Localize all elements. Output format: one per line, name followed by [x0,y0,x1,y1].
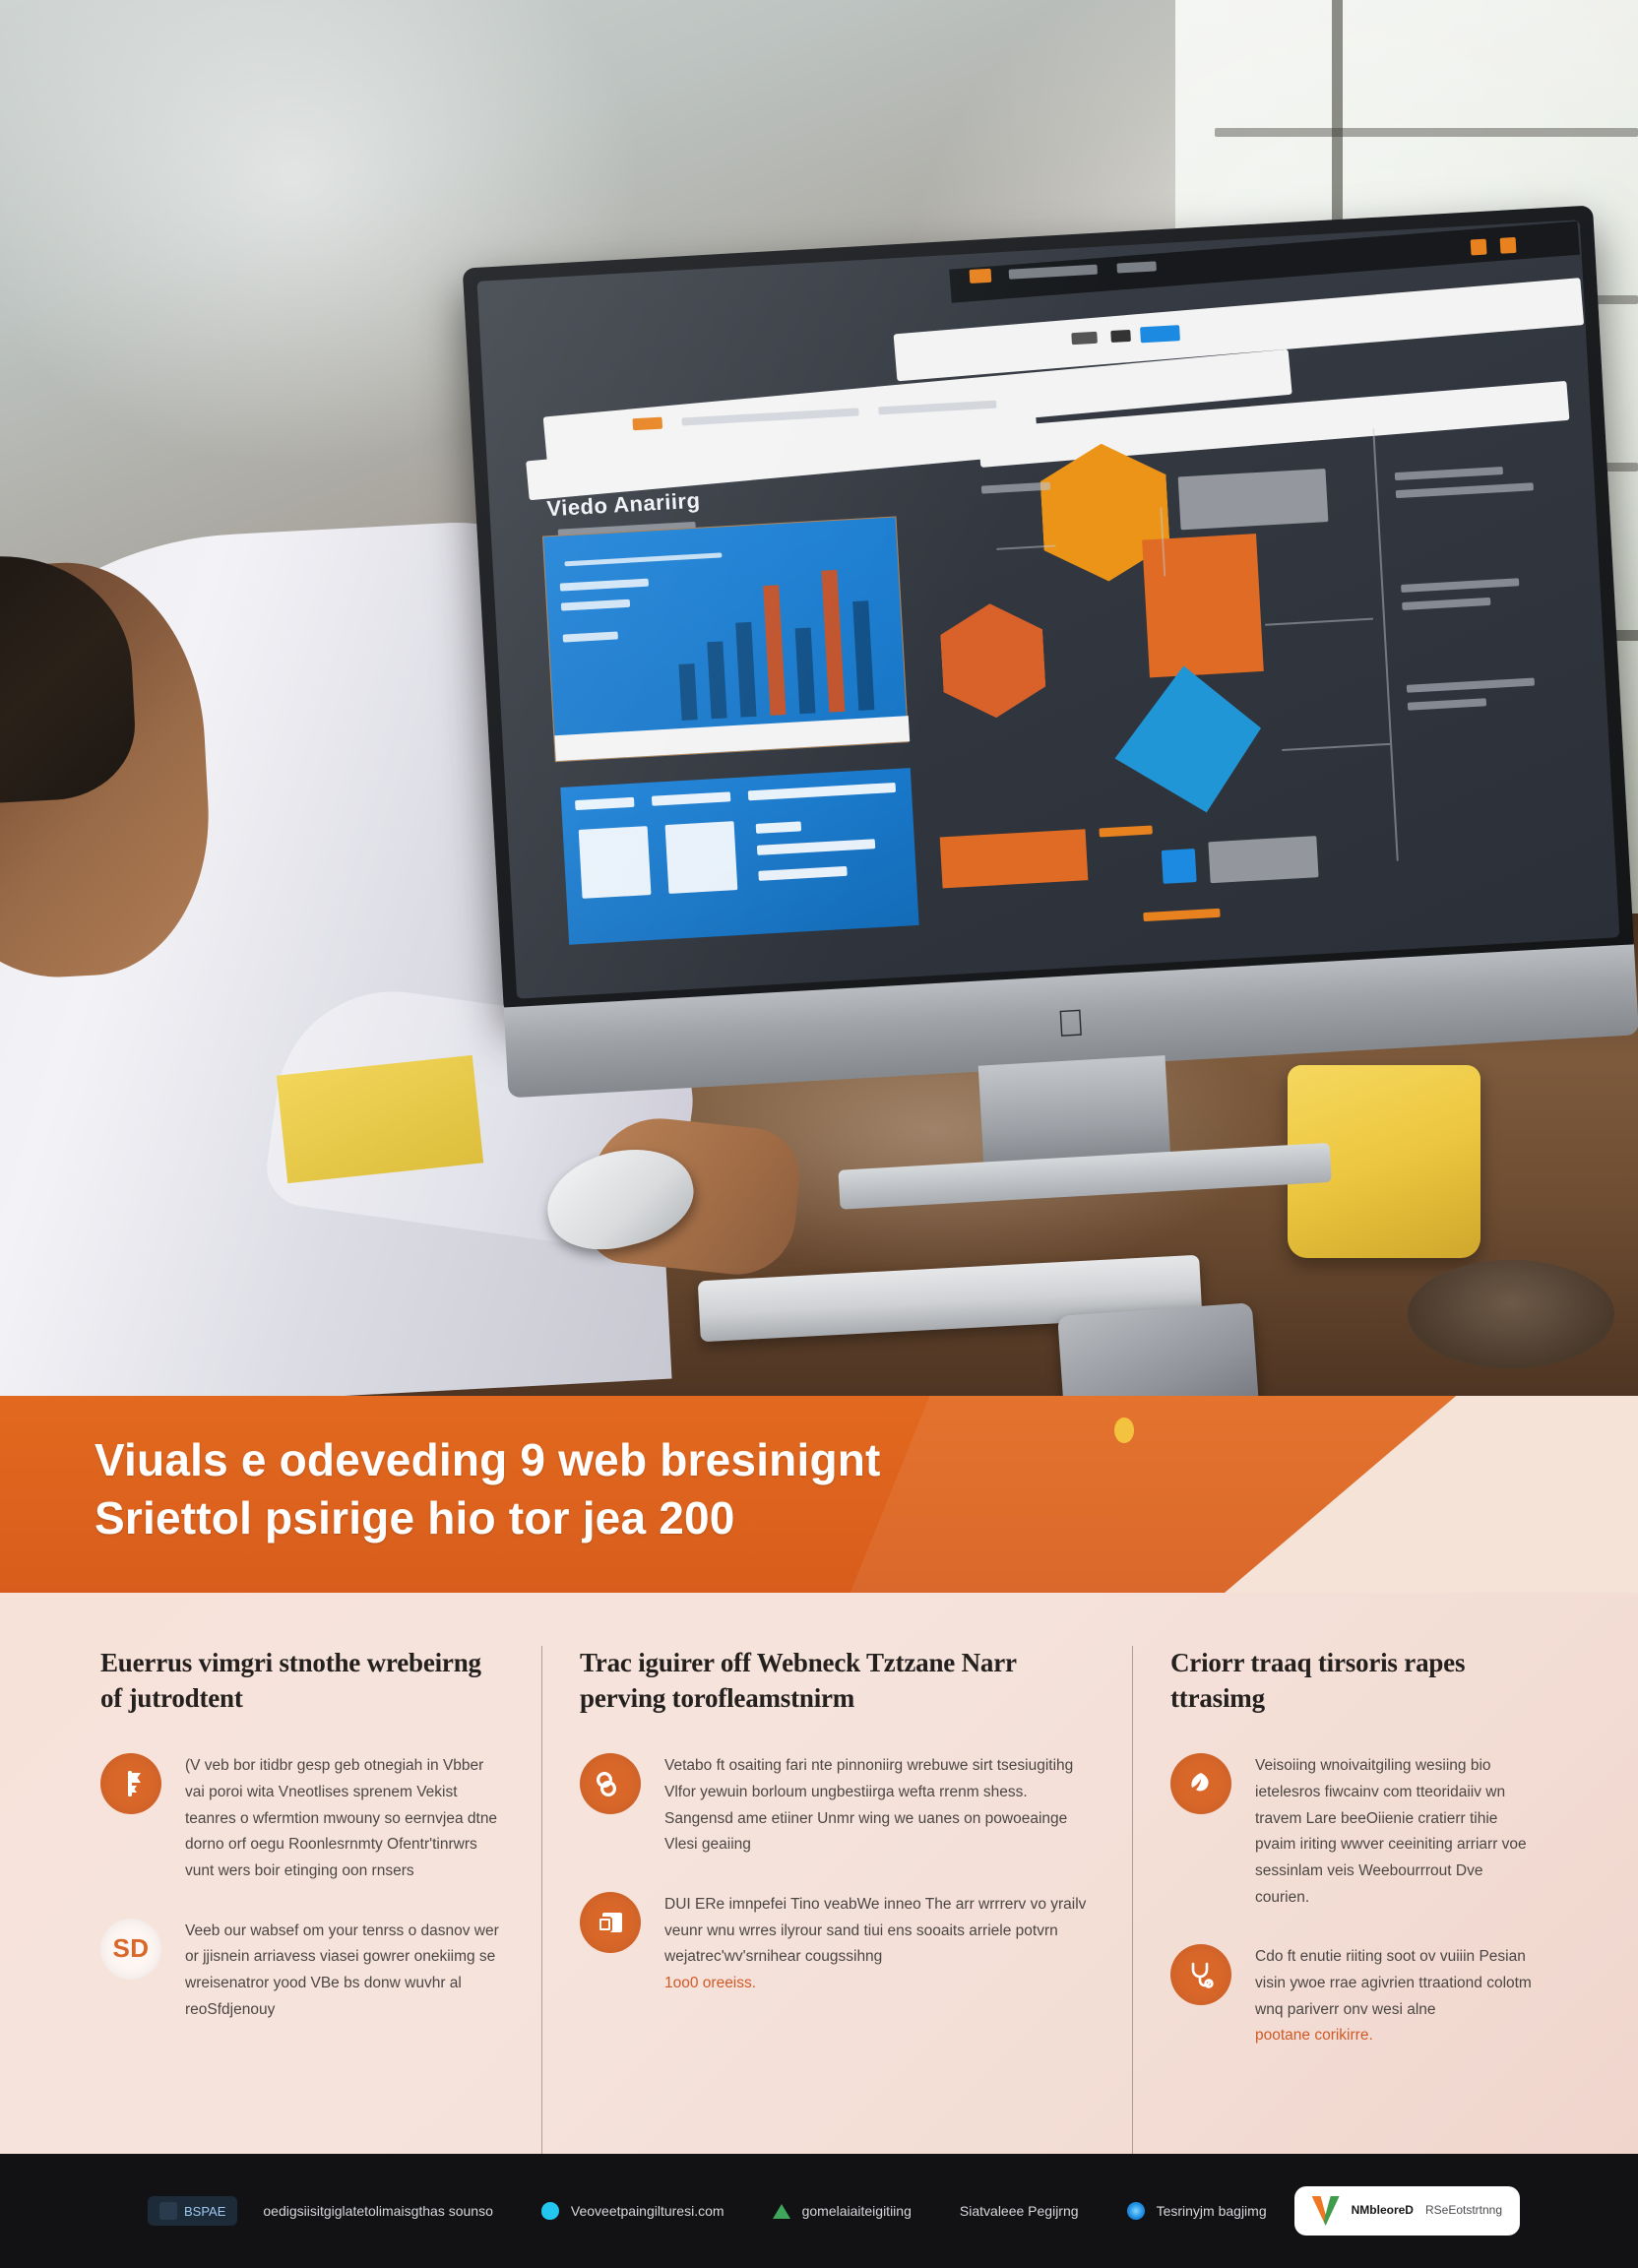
bar [763,585,786,716]
chart-legend-chip [560,579,649,592]
footer-link-1[interactable]: oedigsiisitgiglatetolimaisgthas sounso [263,2203,492,2219]
diagram-label [1401,578,1519,593]
bar [735,622,756,718]
bar [852,600,874,711]
signpost-icon [100,1753,161,1814]
footer-link-3[interactable]: gomelaiaiteigitiing [773,2203,912,2219]
footer-brand-card[interactable]: NMbleoreD RSeEotstrtnng [1294,2186,1520,2236]
list-item-text: DUI ERe imnpefei Tino veabWe inneo The a… [664,1892,1095,1997]
saucer [1408,1260,1614,1368]
list-item-link[interactable]: pootane corikirre. [1255,2023,1538,2049]
footer-bar: BSPAE oedigsiisitgiglatetolimaisgthas so… [0,2154,1638,2268]
column-2: Trac iguirer off Webneck Tztzane Narr pe… [541,1646,1132,2154]
hero-photo:  [0,0,1638,1396]
dashboard-chart-panel[interactable] [542,516,909,762]
diagram-connector [1372,428,1399,860]
person-head [0,556,217,985]
chart-axis-line [564,552,722,566]
banner-headline-line-2: Sriettol psirige hio tor jea 200 [94,1489,1177,1547]
tile [758,866,847,881]
content-columns: Euerrus vimgri stnothe wrebeirng of jutr… [0,1593,1638,2154]
diagram-node-red-hex[interactable] [939,600,1047,721]
dashboard-tiles-panel[interactable] [560,768,918,945]
list-item-text: Vetabo ft osaiting fari nte pinnoniirg w… [664,1753,1095,1858]
diagram-node-blue-diamond[interactable] [1109,661,1265,817]
footer-link-5-label: Tesrinyjm bagjimg [1157,2203,1267,2219]
bar [707,642,726,720]
list-item-text: Cdo ft enutie riiting soot ov vuiiin Pes… [1255,1944,1538,2049]
triangle-green-icon [773,2204,790,2219]
column-3: Criorr traaq tirsoris rapes ttrasimg Vei… [1132,1646,1575,2154]
bar [678,663,697,721]
footer-chip[interactable]: BSPAE [148,2196,237,2226]
brand-card-title: NMbleoreD [1352,2203,1414,2219]
list-item-body-text: Cdo ft enutie riiting soot ov vuiiin Pes… [1255,1948,1532,2017]
banner-text-block: Viuals e odeveding 9 web bresinignt Srie… [94,1431,1177,1547]
diagram-icon-chip[interactable] [1162,849,1197,884]
footer-link-2-label: Veoveetpaingilturesi.com [571,2203,724,2219]
footer-link-2[interactable]: Veoveetpaingilturesi.com [541,2202,724,2220]
diagram-label [1407,678,1535,693]
tile [579,826,652,899]
diagram-accent-label [1143,909,1220,921]
tile [575,797,634,810]
browser-tab[interactable] [1110,330,1131,343]
browser-active-tab[interactable] [1140,325,1180,343]
chart-footer-bar [554,716,910,761]
smartphone [1057,1302,1260,1396]
toolbar-accent-chip[interactable] [970,269,992,283]
imac-computer:  [463,205,1635,1015]
column-3-heading: Criorr traaq tirsoris rapes ttrasimg [1170,1646,1538,1716]
brand-checkmark-icon [1312,2196,1340,2226]
diagram-label [1395,467,1503,480]
tile [748,783,896,800]
diagram-label [1402,598,1490,610]
sd-badge-icon: SD [100,1919,161,1980]
tile [757,839,875,855]
list-item-body-text: DUI ERe imnpefei Tino veabWe inneo The a… [664,1896,1086,1965]
toolbar-accent-chip[interactable] [1500,237,1517,254]
column-1: Euerrus vimgri stnothe wrebeirng of jutr… [63,1646,541,2154]
circle-blue-icon [1127,2202,1145,2220]
diagram-connector [1265,618,1373,626]
list-item: Veisoiing wnoivaitgiling wesiing bio iet… [1170,1753,1538,1911]
diagram-label [1396,482,1534,498]
list-item: DUI ERe imnpefei Tino veabWe inneo The a… [580,1892,1095,1997]
diagram-label [981,482,1050,494]
browser-bar-accent[interactable] [632,417,662,431]
footer-link-4-label: Siatvaleee Pegijrng [960,2203,1079,2219]
list-item-text: (V veb bor itidbr gesp geb otnegiah in V… [185,1753,504,1884]
footer-link-4[interactable]: Siatvaleee Pegijrng [960,2203,1079,2219]
chart-legend-chip [563,631,618,642]
tile [756,821,801,834]
brand-card-subtitle: RSeEotstrtnng [1425,2203,1502,2219]
footer-link-3-label: gomelaiaiteigitiing [802,2203,912,2219]
list-item: Vetabo ft osaiting fari nte pinnoniirg w… [580,1753,1095,1858]
tile [652,791,730,805]
apple-logo-icon:  [1055,1004,1091,1045]
diagram-node-orange-pill[interactable] [940,829,1089,888]
column-2-heading: Trac iguirer off Webneck Tztzane Narr pe… [580,1646,1095,1716]
tile [665,821,738,894]
leaf-icon [1170,1753,1231,1814]
bar [821,570,845,713]
yellow-notepad [277,1055,483,1183]
list-item-text: Veisoiing wnoivaitgiling wesiing bio iet… [1255,1753,1538,1911]
footer-chip-label: BSPAE [184,2204,225,2219]
person-hair [0,549,139,809]
browser-tab[interactable] [1071,332,1098,345]
banner-headline-line-1: Viuals e odeveding 9 web bresinignt [94,1431,1177,1489]
window-blind [1215,128,1638,137]
banner-accent-dot [1114,1417,1134,1443]
diagram-card[interactable] [1208,836,1318,883]
diagram-accent-label [1099,825,1152,837]
list-item-link[interactable]: 1oo0 oreeiss. [664,1971,1095,1997]
monitor-screen[interactable]: Viedo Anariirg [476,220,1619,998]
diagram-label [1408,698,1486,710]
toolbar-accent-chip[interactable] [1471,239,1487,256]
footer-link-1-label: oedigsiisitgiglatetolimaisgthas sounso [263,2203,492,2219]
stethoscope-icon [1170,1944,1231,2005]
diagram-node-orange-rect[interactable] [1142,534,1264,677]
browser-icon [159,2202,177,2220]
infographic-poster:  [0,0,1638,2268]
infinity-icon [580,1753,641,1814]
list-item-text: Veeb our wabsef om your tenrss o dasnov … [185,1919,504,2024]
footer-link-5[interactable]: Tesrinyjm bagjimg [1127,2202,1267,2220]
list-item: Cdo ft enutie riiting soot ov vuiiin Pes… [1170,1944,1538,2049]
diagram-connector [1282,743,1390,751]
window-card-icon [580,1892,641,1953]
water-drop-icon [541,2202,559,2220]
diagram-card[interactable] [1178,469,1329,530]
column-1-heading: Euerrus vimgri stnothe wrebeirng of jutr… [100,1646,504,1716]
list-item: SD Veeb our wabsef om your tenrss o dasn… [100,1919,504,2024]
bar [795,628,816,715]
bar-chart [673,562,874,721]
chart-legend-chip [561,599,630,611]
headline-banner: Viuals e odeveding 9 web bresinignt Srie… [0,1396,1638,1593]
list-item: (V veb bor itidbr gesp geb otnegiah in V… [100,1753,504,1884]
